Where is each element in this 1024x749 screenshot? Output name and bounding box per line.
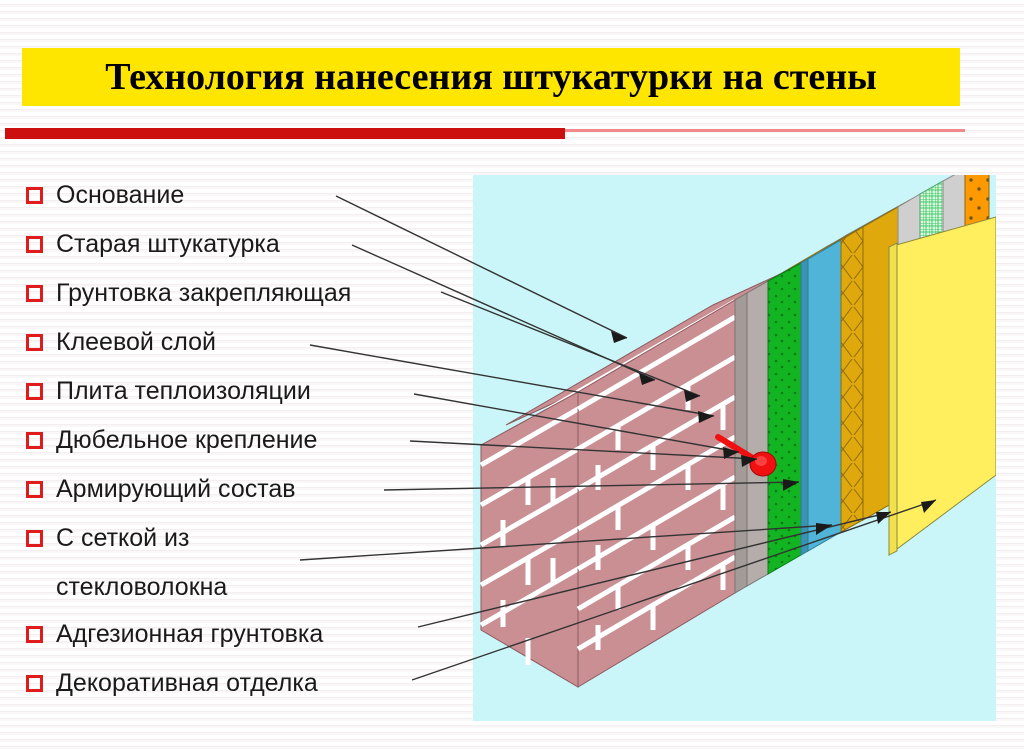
divider-bar-thick: [5, 128, 565, 139]
list-item-label-wrapped: стекловолокна: [56, 572, 456, 602]
list-item-label: Адгезионная грунтовка: [56, 619, 323, 649]
layer-front-primer: [768, 263, 801, 574]
list-item-label: Клеевой слой: [56, 327, 216, 357]
list-item-label: Армирующий состав: [56, 474, 296, 504]
list-item-label: Дюбельное крепление: [56, 425, 317, 455]
wall-section-diagram: [473, 175, 996, 721]
list-item[interactable]: Старая штукатурка: [26, 229, 456, 278]
list-item[interactable]: Адгезионная грунтовка: [26, 619, 456, 668]
slide-canvas: Технология нанесения штукатурки на стены: [0, 0, 1024, 749]
layer-front-brick: [578, 300, 735, 687]
page-title: Технология нанесения штукатурки на стены: [105, 58, 877, 96]
checkbox-icon[interactable]: [26, 236, 43, 253]
layer-brick-side-face: [481, 392, 578, 687]
checkbox-icon[interactable]: [26, 626, 43, 643]
divider-bar-thin: [565, 129, 965, 132]
list-item[interactable]: Декоративная отделка: [26, 668, 456, 717]
list-item[interactable]: Армирующий состав: [26, 474, 456, 523]
checkbox-icon[interactable]: [26, 383, 43, 400]
list-item[interactable]: Дюбельное крепление: [26, 425, 456, 474]
list-item[interactable]: Плита теплоизоляции: [26, 376, 456, 425]
checkbox-icon[interactable]: [26, 432, 43, 449]
checkbox-icon[interactable]: [26, 530, 43, 547]
layer-legend-list: Основание Старая штукатурка Грунтовка за…: [26, 180, 456, 717]
checkbox-icon[interactable]: [26, 334, 43, 351]
list-item-label: С сеткой из: [56, 523, 189, 553]
list-item[interactable]: Клеевой слой: [26, 327, 456, 376]
layer-front-old-plaster: [735, 281, 768, 593]
list-item-label: Старая штукатурка: [56, 229, 280, 259]
list-item-label: Основание: [56, 180, 184, 210]
list-item[interactable]: Грунтовка закрепляющая: [26, 278, 456, 327]
checkbox-icon[interactable]: [26, 675, 43, 692]
diagram-svg: [473, 175, 996, 721]
layer-decorative-finish: [889, 217, 996, 555]
checkbox-icon[interactable]: [26, 481, 43, 498]
list-item-continuation: стекловолокна: [26, 572, 456, 619]
list-item[interactable]: С сеткой из: [26, 523, 456, 572]
list-item-label: Декоративная отделка: [56, 668, 318, 698]
title-banner: Технология нанесения штукатурки на стены: [22, 48, 960, 106]
checkbox-icon[interactable]: [26, 187, 43, 204]
list-item-label: Грунтовка закрепляющая: [56, 278, 351, 308]
list-item-label: Плита теплоизоляции: [56, 376, 311, 406]
list-item[interactable]: Основание: [26, 180, 456, 229]
layer-front-adhesive: [801, 240, 841, 555]
checkbox-icon[interactable]: [26, 285, 43, 302]
